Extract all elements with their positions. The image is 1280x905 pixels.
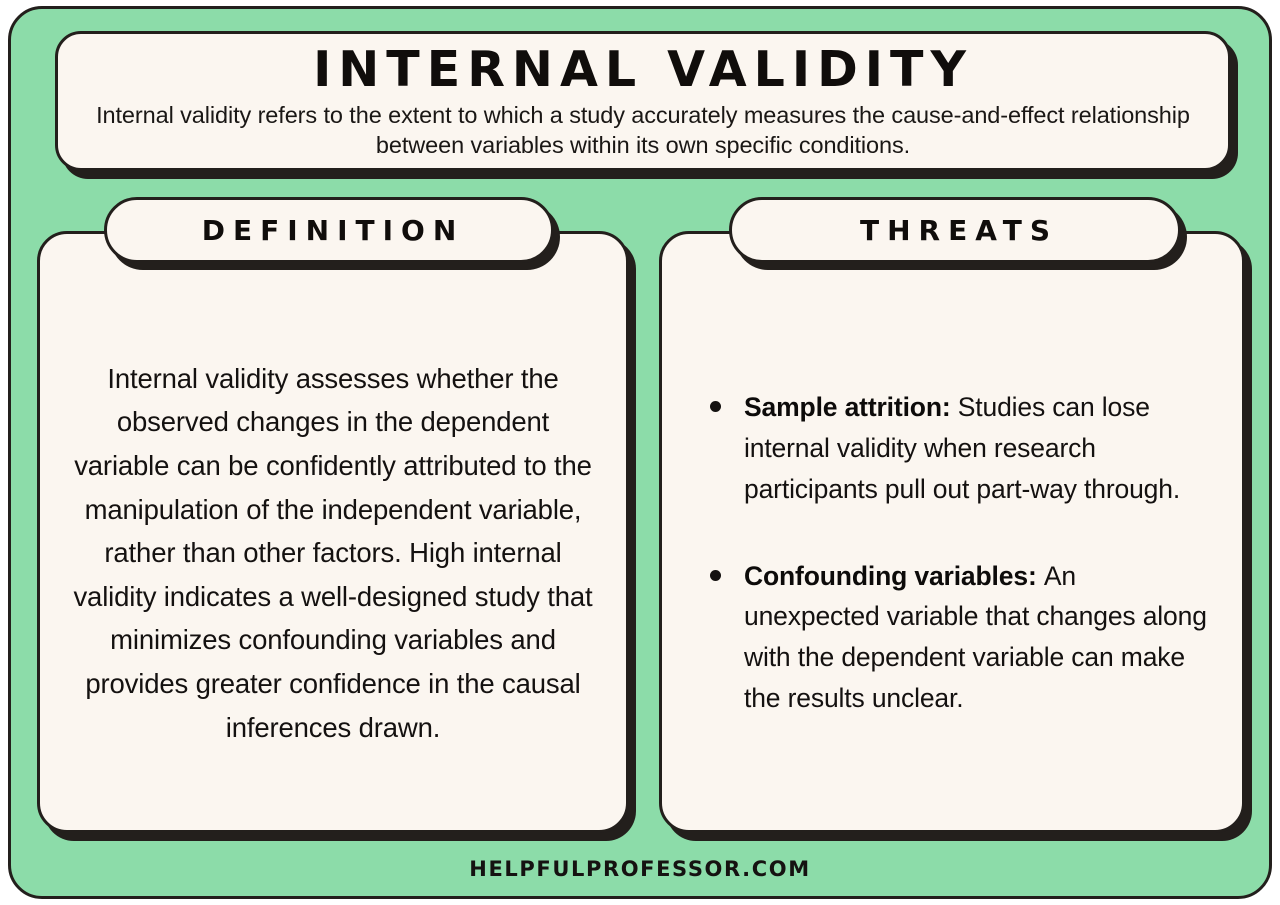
footer: HELPFULPROFESSOR.COM — [11, 857, 1269, 881]
tab-definition[interactable]: DEFINITION — [104, 197, 554, 263]
page-title: INTERNAL VALIDITY — [84, 44, 1202, 97]
bullet-point-icon — [710, 401, 721, 412]
list-item: Confounding variables: An unexpected var… — [702, 556, 1210, 719]
tab-threats-label: THREATS — [852, 214, 1058, 247]
threats-card: Sample attrition: Studies can lose inter… — [659, 231, 1245, 833]
threat-term: Sample attrition: — [744, 392, 958, 422]
header-card: INTERNAL VALIDITY Internal validity refe… — [55, 31, 1231, 171]
threats-card-content: Sample attrition: Studies can lose inter… — [662, 284, 1242, 822]
tab-definition-label: DEFINITION — [194, 214, 465, 247]
page-subtitle: Internal validity refers to the extent t… — [84, 97, 1202, 160]
bullet-point-icon — [710, 570, 721, 581]
list-item: Sample attrition: Studies can lose inter… — [702, 387, 1210, 509]
definition-body-text: Internal validity assesses whether the o… — [66, 357, 600, 749]
definition-card: Internal validity assesses whether the o… — [37, 231, 629, 833]
infographic-poster: INTERNAL VALIDITY Internal validity refe… — [8, 6, 1272, 899]
definition-card-content: Internal validity assesses whether the o… — [40, 284, 626, 822]
footer-site-credit: HELPFULPROFESSOR.COM — [469, 857, 810, 881]
tab-threats[interactable]: THREATS — [729, 197, 1181, 263]
threat-term: Confounding variables: — [744, 561, 1044, 591]
threats-list: Sample attrition: Studies can lose inter… — [688, 387, 1216, 719]
